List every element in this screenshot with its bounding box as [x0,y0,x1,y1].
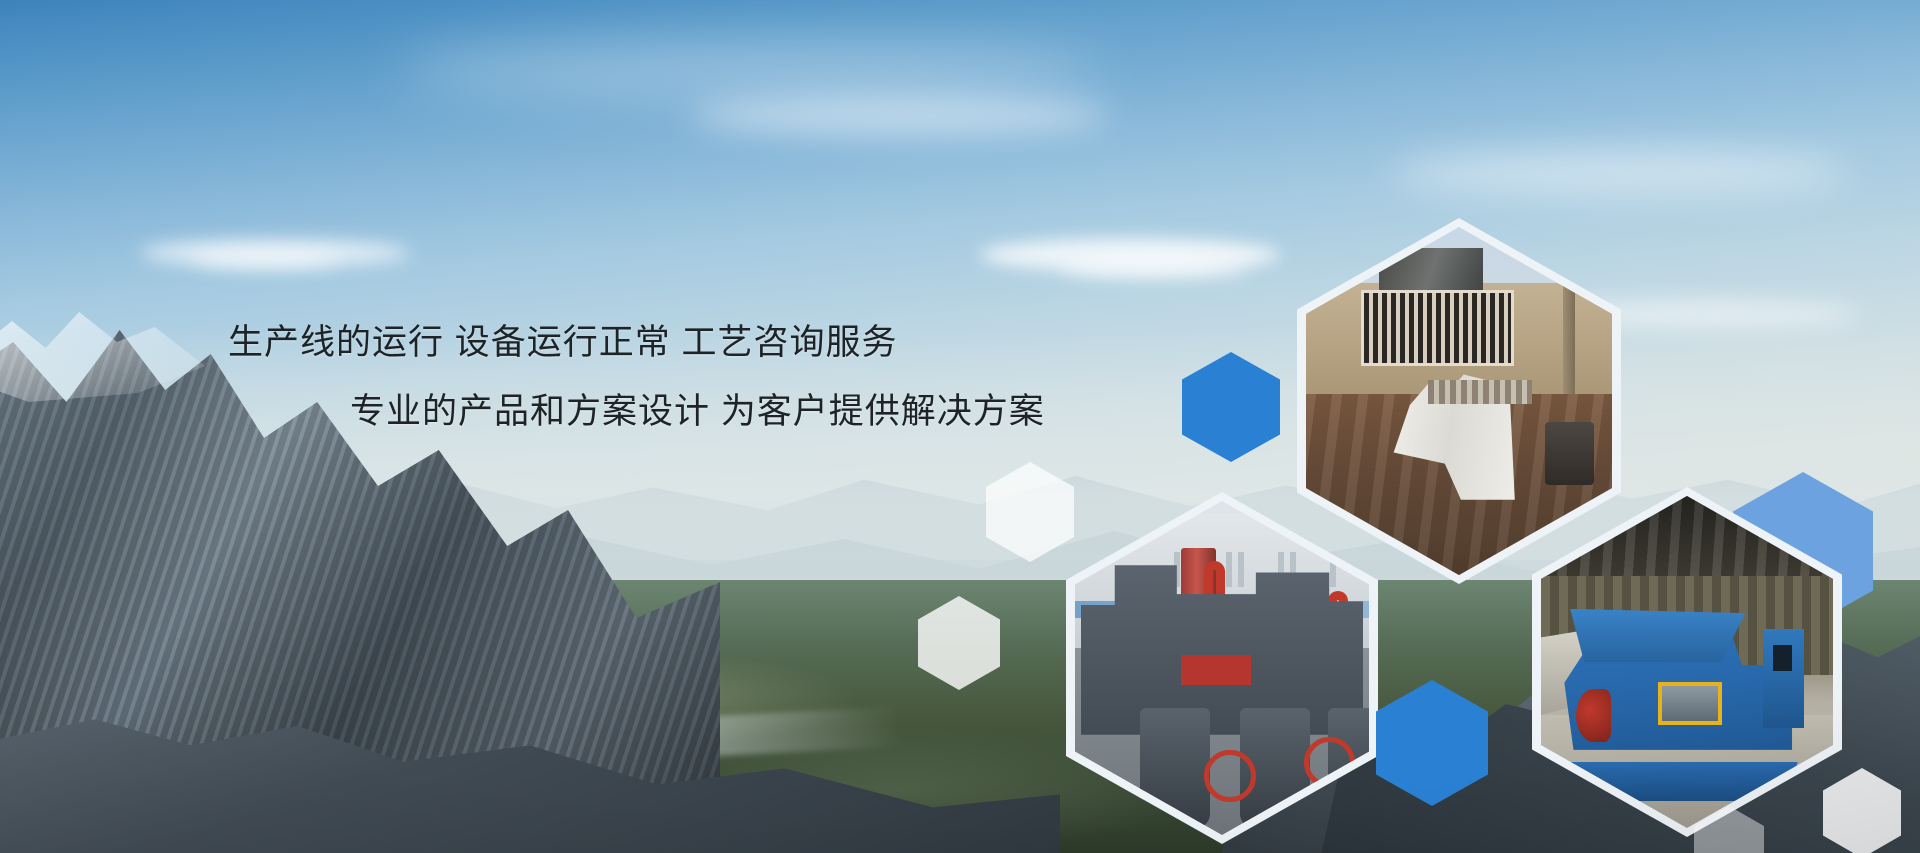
photo-blue-shredder [1541,496,1833,828]
cloud-wisp [690,96,1110,136]
banner-stage: 生产线的运行 设备运行正常 工艺咨询服务 专业的产品和方案设计 为客户提供解决方… [0,0,1920,853]
headline-line-2: 专业的产品和方案设计 为客户提供解决方案 [350,394,1148,429]
banner-headline: 生产线的运行 设备运行正常 工艺咨询服务 专业的产品和方案设计 为客户提供解决方… [228,325,1148,429]
hex-photo-mid-image [1075,501,1369,835]
cloud-wisp [190,252,340,268]
photo-grey-production-line [1075,501,1369,835]
cloud-wisp [1390,150,1850,196]
photo-white-machine [1306,227,1612,575]
hex-photo-right-image [1541,496,1833,828]
cloud-wisp [400,40,1100,100]
cloud-wisp [1060,258,1250,278]
hex-photo-top-image [1306,227,1612,575]
headline-line-1: 生产线的运行 设备运行正常 工艺咨询服务 [228,325,1148,360]
